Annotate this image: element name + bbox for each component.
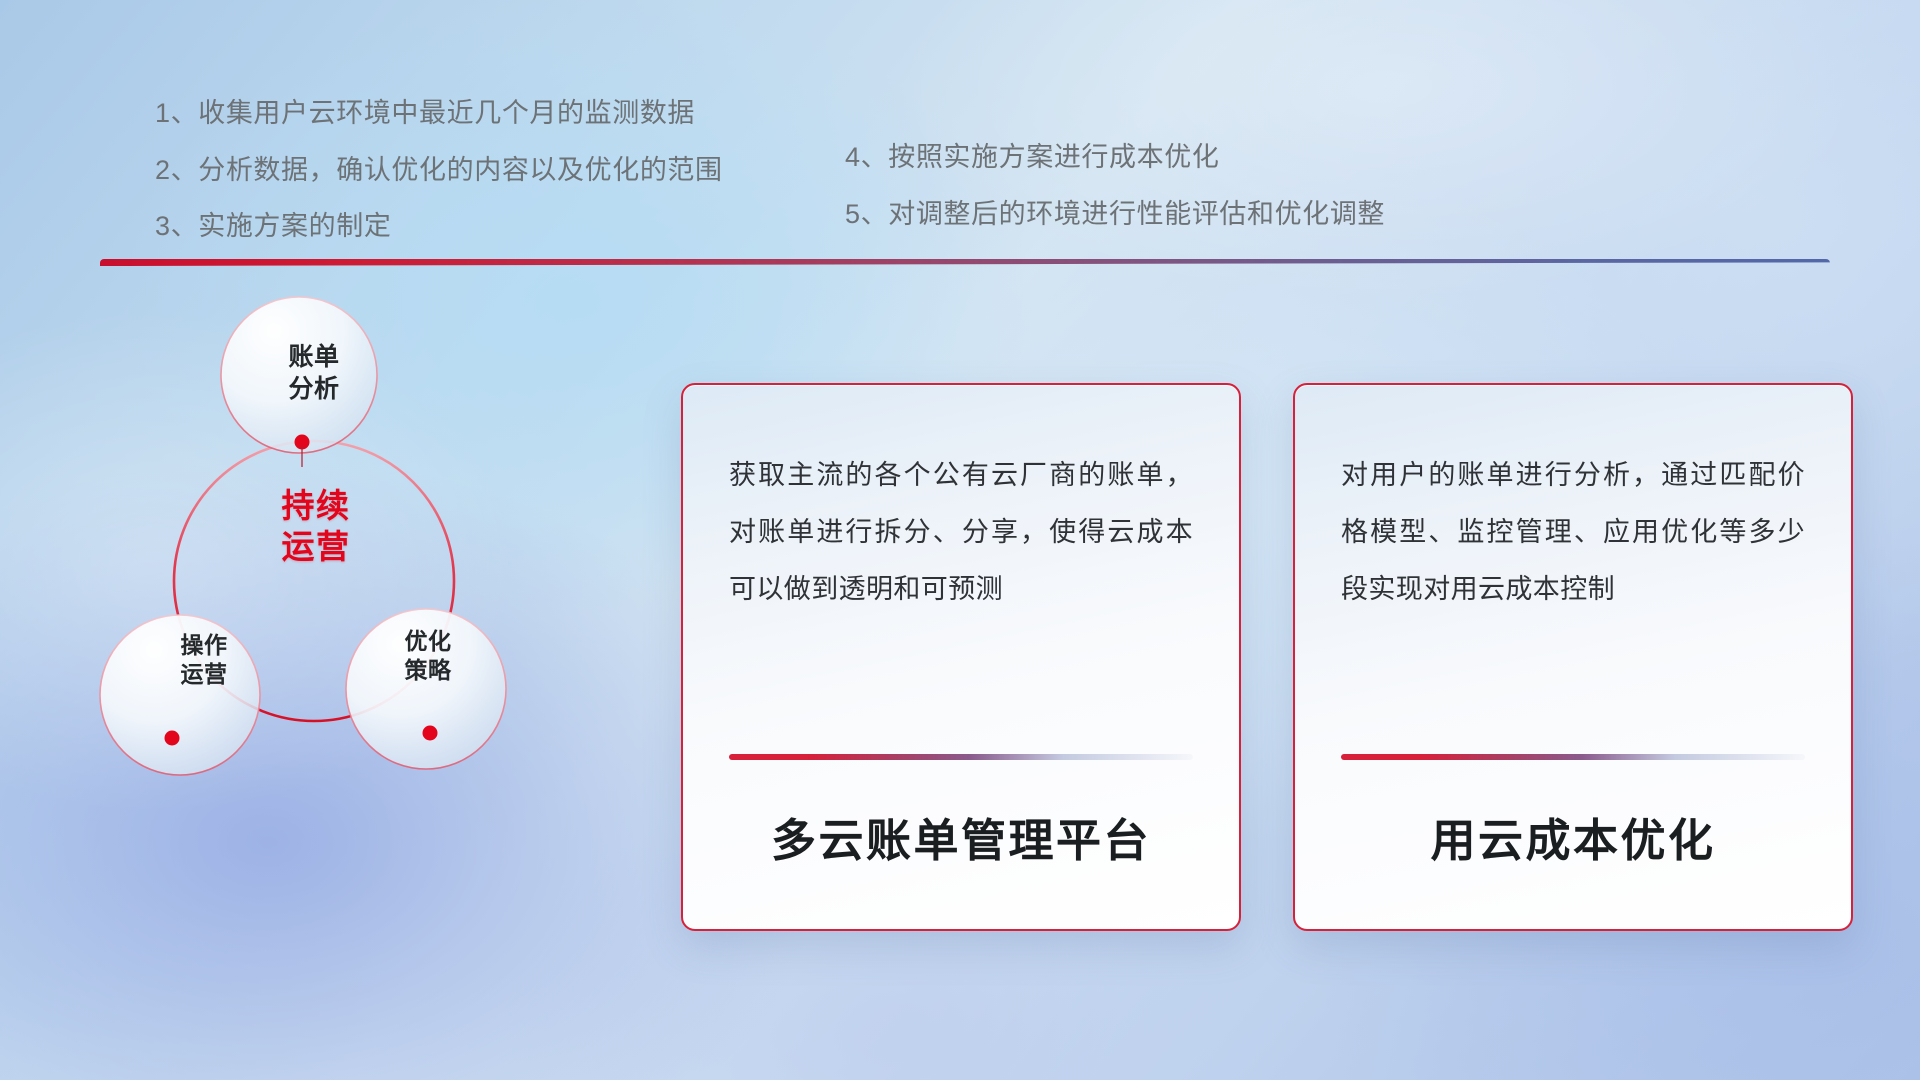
slide-canvas: 1、收集用户云环境中最近几个月的监测数据 2、分析数据，确认优化的内容以及优化的… [0,0,1920,1080]
venn-diagram: 账单 分析 操作 运营 优化 策略 持续 运营 [86,285,546,785]
process-steps-column-left: 1、收集用户云环境中最近几个月的监测数据 2、分析数据，确认优化的内容以及优化的… [155,96,845,244]
venn-label-bottom-left: 操作 运营 [124,631,284,690]
venn-center-label: 持续 运营 [226,485,406,568]
venn-node-bottom-left [165,731,180,746]
process-steps-column-right: 4、按照实施方案进行成本优化 5、对调整后的环境进行性能评估和优化调整 [845,96,1385,244]
process-step-5: 5、对调整后的环境进行性能评估和优化调整 [845,197,1385,232]
feature-card-cost-optimization[interactable]: 对用户的账单进行分析，通过匹配价格模型、监控管理、应用优化等多少段实现对用云成本… [1293,383,1853,931]
feature-card-title: 多云账单管理平台 [729,760,1193,929]
process-steps-list: 1、收集用户云环境中最近几个月的监测数据 2、分析数据，确认优化的内容以及优化的… [0,96,1920,244]
process-step-4: 4、按照实施方案进行成本优化 [845,140,1385,175]
process-step-3: 3、实施方案的制定 [155,209,845,244]
venn-node-bottom-right [423,726,438,741]
venn-label-bottom-right: 优化 策略 [348,627,508,686]
feature-card-billing-platform[interactable]: 获取主流的各个公有云厂商的账单，对账单进行拆分、分享，使得云成本可以做到透明和可… [681,383,1241,931]
feature-card-title: 用云成本优化 [1341,760,1805,929]
process-step-2: 2、分析数据，确认优化的内容以及优化的范围 [155,153,845,188]
venn-label-top: 账单 分析 [234,341,394,405]
feature-cards: 获取主流的各个公有云厂商的账单，对账单进行拆分、分享，使得云成本可以做到透明和可… [681,383,1853,931]
process-step-1: 1、收集用户云环境中最近几个月的监测数据 [155,96,845,131]
feature-card-description: 获取主流的各个公有云厂商的账单，对账单进行拆分、分享，使得云成本可以做到透明和可… [729,447,1193,619]
section-divider [100,259,1830,266]
feature-card-description: 对用户的账单进行分析，通过匹配价格模型、监控管理、应用优化等多少段实现对用云成本… [1341,447,1805,619]
